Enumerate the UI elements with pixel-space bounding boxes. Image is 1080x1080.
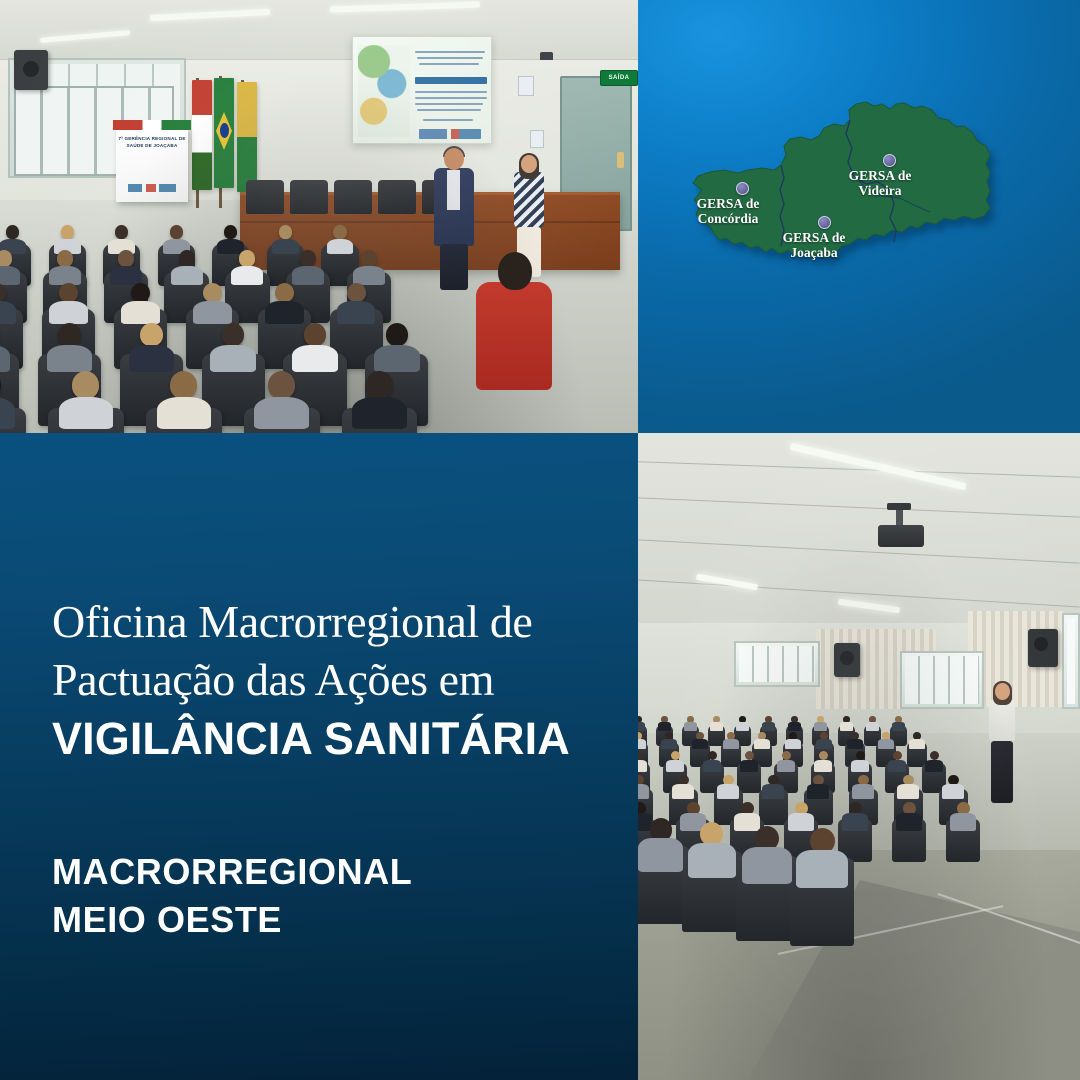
marker-dot-concordia[interactable] — [736, 182, 749, 195]
audience-torso — [717, 784, 739, 798]
photo-top-left-auditorium: SAÍDA 7ª GERÊNCIA REGIONAL DE SAÚDE DE J… — [0, 0, 638, 433]
audience-torso — [762, 722, 775, 730]
audience-torso — [814, 760, 832, 772]
audience-torso — [353, 266, 385, 285]
audience-torso — [942, 784, 964, 798]
audience-torso — [49, 266, 81, 285]
slide-collage-image — [358, 45, 410, 137]
audience-head — [58, 323, 80, 347]
event-banner-text: 7ª GERÊNCIA REGIONAL DE SAÚDE DE JOAÇABA — [116, 136, 188, 150]
audience-torso — [638, 722, 645, 730]
audience-torso — [292, 345, 338, 372]
audience-torso — [852, 784, 874, 798]
audience-head — [268, 371, 295, 399]
audience-torso — [851, 760, 869, 772]
audience-torso — [272, 239, 299, 255]
audience-torso — [742, 847, 792, 884]
audience-head — [275, 283, 294, 303]
audience-torso — [896, 813, 922, 830]
audience-torso — [47, 345, 93, 372]
audience-torso — [672, 784, 694, 798]
audience-torso — [734, 813, 760, 830]
audience-torso — [658, 722, 671, 730]
audience-torso — [816, 739, 831, 749]
audience-torso — [292, 266, 324, 285]
audience-torso — [785, 739, 800, 749]
audience-torso — [171, 266, 203, 285]
audience-head — [366, 371, 393, 399]
audience-torso — [925, 760, 943, 772]
audience-torso — [352, 397, 406, 429]
audience-head — [361, 250, 377, 267]
audience-torso — [807, 784, 829, 798]
audience-head — [0, 250, 12, 267]
audience-torso — [684, 722, 697, 730]
audience-torso — [866, 722, 879, 730]
audience-torso — [231, 266, 263, 285]
audience-torso — [337, 301, 375, 323]
audience-torso — [777, 760, 795, 772]
audience-torso — [638, 739, 646, 749]
audience-torso — [754, 739, 769, 749]
wall-speaker-icon — [14, 50, 48, 90]
audience-head — [239, 250, 255, 267]
window — [900, 651, 984, 709]
event-title-line1: Oficina Macrorregional de — [52, 593, 600, 651]
audience-head — [131, 283, 150, 303]
ceiling-projector — [878, 525, 924, 547]
map-label-videira: GERSA de Videira — [810, 168, 950, 198]
audience-torso — [842, 813, 868, 830]
audience-head — [203, 283, 222, 303]
audience-torso — [878, 739, 893, 749]
audience-torso — [638, 760, 647, 772]
audience-torso — [692, 739, 707, 749]
audience-torso — [688, 843, 736, 878]
audience-torso — [374, 345, 420, 372]
audience-head — [386, 323, 408, 347]
audience-torso — [847, 739, 862, 749]
audience-torso — [788, 813, 814, 830]
audience-head — [279, 225, 292, 239]
audience-head — [118, 250, 134, 267]
presenter-person — [432, 148, 476, 288]
audience-torso — [638, 784, 649, 798]
slide-logo-row — [419, 129, 481, 139]
audience-torso — [265, 301, 303, 323]
audience-head — [140, 323, 162, 347]
audience-torso — [254, 397, 308, 429]
audience-head — [333, 225, 346, 239]
audience-head — [170, 371, 197, 399]
event-title: Oficina Macrorregional de Pactuação das … — [52, 593, 600, 767]
poster-canvas: SAÍDA 7ª GERÊNCIA REGIONAL DE SAÚDE DE J… — [0, 0, 1080, 1080]
wall-speaker-icon — [834, 643, 860, 677]
audience-head — [179, 250, 195, 267]
audience-head — [59, 283, 78, 303]
wall-speaker-icon — [1028, 629, 1058, 667]
audience-torso — [892, 722, 905, 730]
audience-red-jacket — [476, 282, 552, 390]
audience-torso — [814, 722, 827, 730]
audience-torso — [703, 760, 721, 772]
audience-torso — [59, 397, 113, 429]
map-label-joacaba: GERSA de Joaçaba — [744, 230, 884, 260]
marker-dot-videira[interactable] — [883, 154, 896, 167]
audience-head — [57, 250, 73, 267]
audience-head — [222, 323, 244, 347]
audience-head — [498, 252, 532, 290]
event-title-line3: VIGILÂNCIA SANITÁRIA — [52, 710, 600, 767]
audience-head — [300, 250, 316, 267]
wall-notice — [530, 130, 544, 148]
audience-head — [347, 283, 366, 303]
audience-torso — [0, 301, 16, 323]
window — [734, 641, 820, 687]
audience-head — [72, 371, 99, 399]
audience-torso — [740, 760, 758, 772]
presenter-person — [986, 683, 1018, 815]
window — [1062, 613, 1080, 709]
flag-santa-catarina — [192, 80, 212, 190]
audience-torso — [796, 850, 847, 888]
audience-torso — [788, 722, 801, 730]
audience-torso — [909, 739, 924, 749]
audience-torso — [723, 739, 738, 749]
exit-sign-label: SAÍDA — [609, 75, 630, 81]
audience-torso — [736, 722, 749, 730]
wall-notice — [518, 76, 534, 96]
projection-screen — [352, 36, 492, 144]
auditorium-scene-wide — [638, 433, 1080, 1080]
auditorium-scene: SAÍDA 7ª GERÊNCIA REGIONAL DE SAÚDE DE J… — [0, 0, 638, 433]
audience-torso — [193, 301, 231, 323]
audience-torso — [950, 813, 976, 830]
audience-torso — [710, 722, 723, 730]
ceiling — [0, 0, 638, 60]
audience-head — [115, 225, 128, 239]
audience-head — [304, 323, 326, 347]
text-panel: Oficina Macrorregional de Pactuação das … — [0, 433, 638, 1080]
photo-bottom-right-auditorium — [638, 433, 1080, 1080]
audience-torso — [888, 760, 906, 772]
audience-torso — [666, 760, 684, 772]
audience-head — [61, 225, 74, 239]
audience-torso — [49, 301, 87, 323]
audience-head — [170, 225, 183, 239]
audience-torso — [157, 397, 211, 429]
event-subtitle: MACRORREGIONAL MEIO OESTE — [52, 848, 572, 943]
audience-torso — [762, 784, 784, 798]
audience-head — [224, 225, 237, 239]
audience-torso — [897, 784, 919, 798]
flag-brasil — [214, 78, 234, 188]
exit-sign: SAÍDA — [600, 70, 638, 86]
audience-torso — [121, 301, 159, 323]
audience-torso — [129, 345, 175, 372]
banner-logos — [128, 184, 176, 192]
security-camera-icon — [540, 52, 553, 60]
audience-torso — [638, 838, 683, 872]
map-label-concordia: GERSA de Concórdia — [658, 196, 798, 226]
flag-municipal — [237, 82, 257, 192]
audience-torso — [210, 345, 256, 372]
audience-torso — [661, 739, 676, 749]
event-title-line2: Pactuação das Ações em — [52, 651, 600, 709]
audience-torso — [110, 266, 142, 285]
map-panel: GERSA de Concórdia GERSA de Joaçaba GERS… — [638, 0, 1080, 433]
audience-torso — [840, 722, 853, 730]
audience-head — [6, 225, 19, 239]
slide-title-bar — [415, 77, 487, 84]
audience-torso — [327, 239, 354, 255]
marker-dot-joacaba[interactable] — [818, 216, 831, 229]
event-banner: 7ª GERÊNCIA REGIONAL DE SAÚDE DE JOAÇABA — [116, 128, 188, 202]
audience-torso — [0, 266, 20, 285]
